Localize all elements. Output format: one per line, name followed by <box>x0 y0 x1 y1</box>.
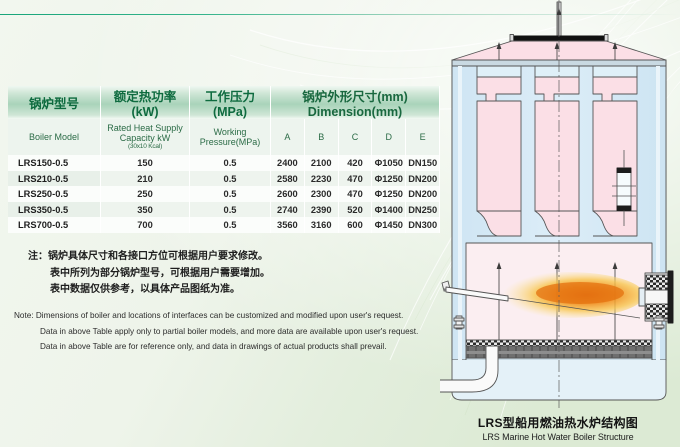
table-body: LRS150-0.5 150 0.5 2400 2100 420 Φ1050 D… <box>8 155 440 233</box>
cell-capacity: 150 <box>101 155 190 171</box>
cell-pressure: 0.5 <box>190 202 271 218</box>
cell-c: 470 <box>338 186 372 202</box>
subheader-a: A <box>271 119 305 155</box>
subheader-pressure: Working Pressure(MPa) <box>190 119 271 155</box>
cell-pressure: 0.5 <box>190 217 271 233</box>
subheader-capacity: Rated Heat Supply Capacity kW (30x10 Kca… <box>101 119 190 155</box>
subheader-c: C <box>338 119 372 155</box>
flame <box>492 272 644 318</box>
cell-capacity: 210 <box>101 171 190 187</box>
boiler-spec-table: 锅炉型号 额定热功率(kW) 工作压力(MPa) 锅炉外形尺寸(mm) Dime… <box>8 86 440 233</box>
note-en-line-1: Note: Dimensions of boiler and locations… <box>14 308 464 324</box>
cell-a: 3560 <box>271 217 305 233</box>
cell-d: Φ1400 <box>372 202 406 218</box>
cell-b: 3160 <box>304 217 338 233</box>
cell-a: 2400 <box>271 155 305 171</box>
cell-model: LRS150-0.5 <box>8 155 101 171</box>
caption-chinese: LRS型船用燃油热水炉结构图 <box>440 414 676 431</box>
cell-e: DN300 <box>406 217 440 233</box>
table-row: LRS350-0.5 350 0.5 2740 2390 520 Φ1400 D… <box>8 202 440 218</box>
cell-c: 470 <box>338 171 372 187</box>
table-subheader-row: Boiler Model Rated Heat Supply Capacity … <box>8 119 440 155</box>
note-cn-line-1: 注：锅炉具体尺寸和各接口方位可根据用户要求修改。 <box>28 249 448 266</box>
cell-a: 2580 <box>271 171 305 187</box>
subheader-d: D <box>372 119 406 155</box>
subheader-e: E <box>406 119 440 155</box>
cell-model: LRS250-0.5 <box>8 186 101 202</box>
cell-b: 2230 <box>304 171 338 187</box>
cell-d: Φ1250 <box>372 186 406 202</box>
cell-e: DN200 <box>406 186 440 202</box>
cell-pressure: 0.5 <box>190 155 271 171</box>
notes-chinese: 注：锅炉具体尺寸和各接口方位可根据用户要求修改。 表中所列为部分锅炉型号，可根据… <box>28 249 448 299</box>
caption-english: LRS Marine Hot Water Boiler Structure <box>440 432 676 442</box>
table-row: LRS150-0.5 150 0.5 2400 2100 420 Φ1050 D… <box>8 155 440 171</box>
marine-hot-water-boiler-cutaway <box>440 0 680 415</box>
cell-pressure: 0.5 <box>190 171 271 187</box>
cell-b: 2300 <box>304 186 338 202</box>
note-cn-line-3: 表中数据仅供参考，以具体产品图纸为准。 <box>28 282 448 299</box>
cell-e: DN200 <box>406 171 440 187</box>
cell-e: DN250 <box>406 202 440 218</box>
table-row: LRS210-0.5 210 0.5 2580 2230 470 Φ1250 D… <box>8 171 440 187</box>
cell-c: 420 <box>338 155 372 171</box>
cell-c: 600 <box>338 217 372 233</box>
cell-model: LRS210-0.5 <box>8 171 101 187</box>
smoke-tube-left <box>477 66 521 236</box>
note-en-line-3: Data in above Table are for reference on… <box>14 339 464 355</box>
header-group-capacity: 额定热功率(kW) <box>101 86 190 119</box>
table-header-group-row: 锅炉型号 额定热功率(kW) 工作压力(MPa) 锅炉外形尺寸(mm) Dime… <box>8 86 440 119</box>
table-row: LRS250-0.5 250 0.5 2600 2300 470 Φ1250 D… <box>8 186 440 202</box>
cell-pressure: 0.5 <box>190 186 271 202</box>
notes-english: Note: Dimensions of boiler and locations… <box>14 308 464 355</box>
cell-capacity: 250 <box>101 186 190 202</box>
header-group-dimension: 锅炉外形尺寸(mm) Dimension(mm) <box>271 86 440 119</box>
cell-model: LRS700-0.5 <box>8 217 101 233</box>
cell-a: 2600 <box>271 186 305 202</box>
note-cn-line-2: 表中所列为部分锅炉型号，可根据用户需要增加。 <box>28 266 448 283</box>
smoke-tube-center <box>535 66 579 236</box>
cell-e: DN150 <box>406 155 440 171</box>
cell-a: 2740 <box>271 202 305 218</box>
note-en-line-2: Data in above Table apply only to partia… <box>14 324 464 340</box>
cell-d: Φ1050 <box>372 155 406 171</box>
header-group-pressure: 工作压力(MPa) <box>190 86 271 119</box>
subheader-model: Boiler Model <box>8 119 101 155</box>
cell-model: LRS350-0.5 <box>8 202 101 218</box>
diagram-caption: LRS型船用燃油热水炉结构图 LRS Marine Hot Water Boil… <box>440 414 676 442</box>
cell-capacity: 700 <box>101 217 190 233</box>
cell-c: 520 <box>338 202 372 218</box>
cell-b: 2390 <box>304 202 338 218</box>
cell-d: Φ1250 <box>372 171 406 187</box>
cell-d: Φ1450 <box>372 217 406 233</box>
header-group-model: 锅炉型号 <box>8 86 101 119</box>
table-row: LRS700-0.5 700 0.5 3560 3160 600 Φ1450 D… <box>8 217 440 233</box>
cell-capacity: 350 <box>101 202 190 218</box>
subheader-b: B <box>304 119 338 155</box>
cell-b: 2100 <box>304 155 338 171</box>
